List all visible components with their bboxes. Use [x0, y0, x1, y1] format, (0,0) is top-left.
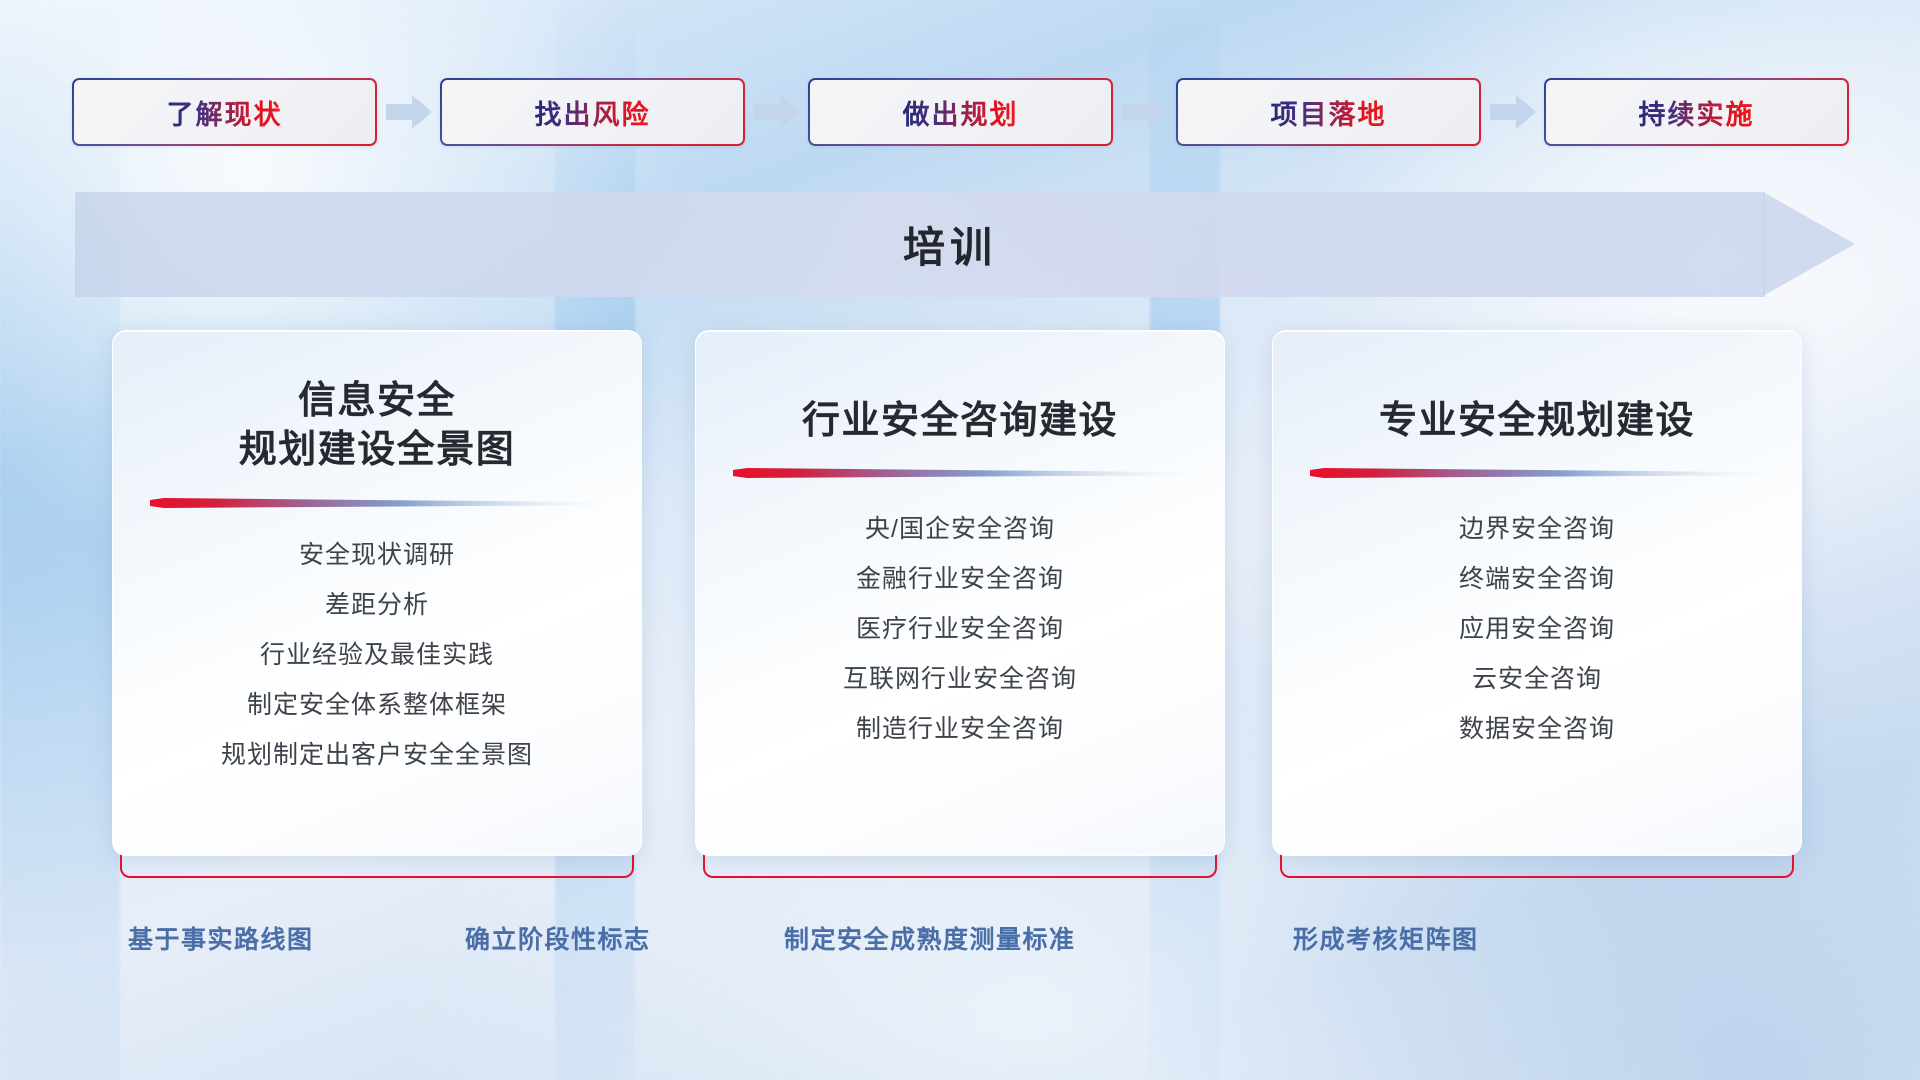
bottom-label-1: 基于事实路线图: [128, 920, 314, 956]
card-2-list-item: 制造行业安全咨询: [856, 704, 1064, 754]
process-arrow-4: [1481, 95, 1544, 129]
card-3-list: 边界安全咨询 终端安全咨询 应用安全咨询 云安全咨询 数据安全咨询: [1273, 504, 1801, 754]
process-step-2[interactable]: 找出风险: [440, 78, 745, 146]
card-3-list-item: 终端安全咨询: [1459, 554, 1615, 604]
process-step-3-label: 做出规划: [903, 93, 1019, 132]
card-2-list: 央/国企安全咨询 金融行业安全咨询 医疗行业安全咨询 互联网行业安全咨询 制造行…: [696, 504, 1224, 754]
card-1-list: 安全现状调研 差距分析 行业经验及最佳实践 制定安全体系整体框架 规划制定出客户…: [113, 530, 641, 780]
card-2-list-item: 互联网行业安全咨询: [843, 654, 1077, 704]
bottom-label-3: 制定安全成熟度测量标准: [784, 920, 1076, 956]
card-3-list-item: 数据安全咨询: [1459, 704, 1615, 754]
process-step-4-label: 项目落地: [1271, 93, 1387, 132]
card-1[interactable]: 信息安全 规划建设全景图: [112, 330, 642, 878]
card-1-list-item: 安全现状调研: [299, 530, 455, 580]
process-step-4[interactable]: 项目落地: [1176, 78, 1481, 146]
card-2-title: 行业安全咨询建设: [696, 397, 1224, 446]
card-3-panel: 专业安全规划建设: [1272, 330, 1802, 856]
process-step-1-label: 了解现状: [167, 93, 283, 132]
process-arrow-3: [1113, 95, 1176, 129]
card-2[interactable]: 行业安全咨询建设: [695, 330, 1225, 878]
process-step-5-label: 持续实施: [1639, 93, 1755, 132]
process-step-1[interactable]: 了解现状: [72, 78, 377, 146]
process-step-row: 了解现状 找出风险 做出规划 项目落地: [72, 78, 1848, 146]
card-3-list-item: 应用安全咨询: [1459, 604, 1615, 654]
bottom-label-4: 形成考核矩阵图: [1293, 920, 1479, 956]
card-3-divider: [1310, 468, 1765, 480]
card-row: 信息安全 规划建设全景图: [0, 330, 1920, 900]
training-banner: 培训: [75, 192, 1855, 297]
card-2-list-item: 金融行业安全咨询: [856, 554, 1064, 604]
process-step-3[interactable]: 做出规划: [808, 78, 1113, 146]
card-3-list-item: 边界安全咨询: [1459, 504, 1615, 554]
card-2-list-item: 医疗行业安全咨询: [856, 604, 1064, 654]
card-2-panel: 行业安全咨询建设: [695, 330, 1225, 856]
card-2-list-item: 央/国企安全咨询: [865, 504, 1055, 554]
card-2-divider: [733, 468, 1188, 480]
training-banner-title: 培训: [75, 192, 1855, 297]
card-1-divider: [150, 498, 605, 510]
card-1-list-item: 行业经验及最佳实践: [260, 630, 494, 680]
card-3-list-item: 云安全咨询: [1472, 654, 1602, 704]
bottom-label-2: 确立阶段性标志: [465, 920, 651, 956]
card-1-list-item: 制定安全体系整体框架: [247, 680, 507, 730]
card-1-list-item: 规划制定出客户安全全景图: [221, 730, 533, 780]
process-arrow-1: [377, 95, 440, 129]
card-1-list-item: 差距分析: [325, 580, 429, 630]
bottom-label-row: 基于事实路线图 确立阶段性标志 制定安全成熟度测量标准 形成考核矩阵图: [0, 920, 1920, 990]
card-3[interactable]: 专业安全规划建设: [1272, 330, 1802, 878]
process-step-5[interactable]: 持续实施: [1544, 78, 1849, 146]
card-1-panel: 信息安全 规划建设全景图: [112, 330, 642, 856]
card-1-title: 信息安全 规划建设全景图: [113, 377, 641, 476]
card-3-title: 专业安全规划建设: [1273, 397, 1801, 446]
process-arrow-2: [745, 95, 808, 129]
process-step-2-label: 找出风险: [535, 93, 651, 132]
